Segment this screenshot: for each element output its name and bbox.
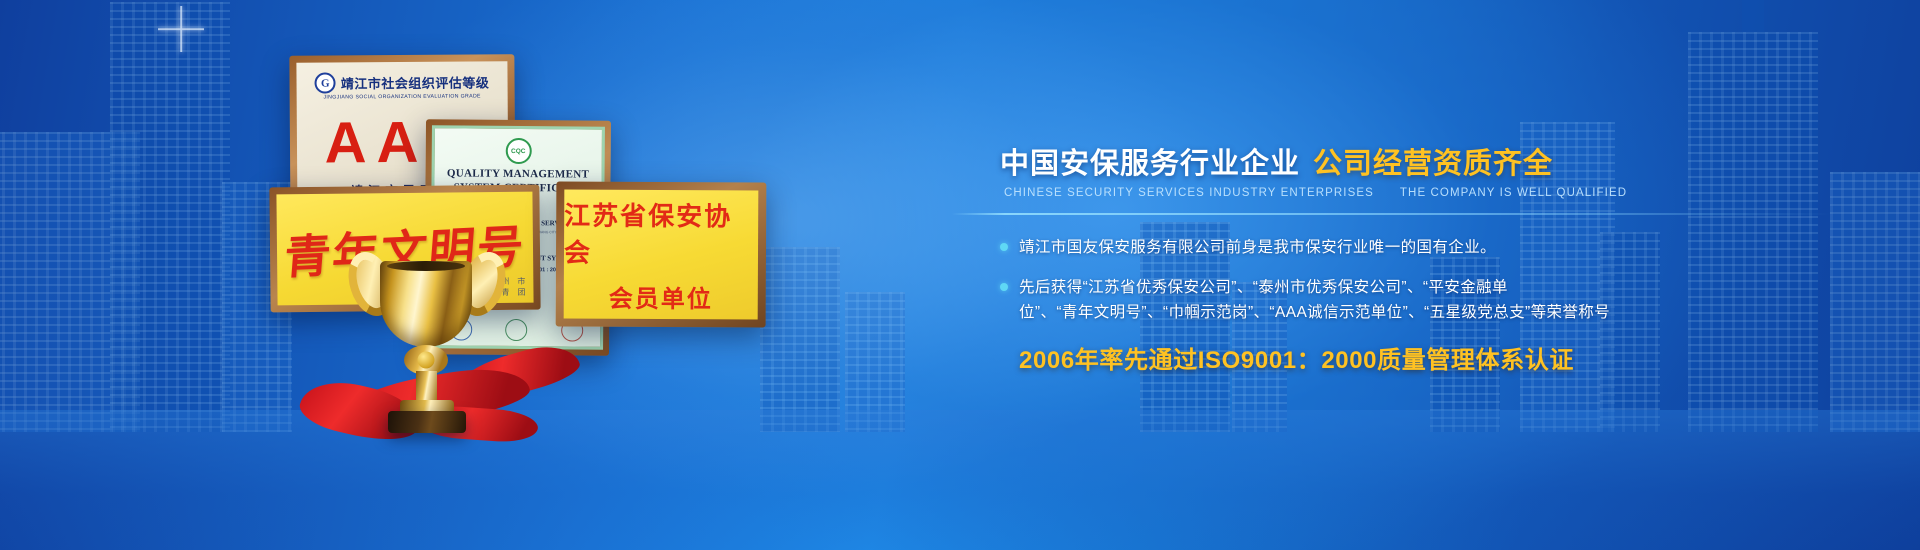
association-name: 江苏省保安协会 xyxy=(564,195,758,270)
bullet-list: 靖江市国友保安服务有限公司前身是我市保安行业唯一的国有企业。 先后获得“江苏省优… xyxy=(1000,235,1870,326)
headline-divider xyxy=(952,213,1832,215)
banner-copy: 中国安保服务行业企业 公司经营资质齐全 CHINESE SECURITY SER… xyxy=(1000,140,1870,375)
iso-highlight-text: 2006年率先通过ISO9001：2000质量管理体系认证 xyxy=(1019,340,1870,375)
aaa-header: 靖江市社会组织评估等级 xyxy=(315,71,490,93)
subtitle-en-left: CHINESE SECURITY SERVICES INDUSTRY ENTER… xyxy=(1004,187,1374,199)
headline-primary: 中国安保服务行业企业 xyxy=(1000,140,1300,182)
aaa-title-en: JINGJIANG SOCIAL ORGANIZATION EVALUATION… xyxy=(323,93,480,100)
subtitle-en-right: THE COMPANY IS WELL QUALIFIED xyxy=(1400,187,1627,199)
trophy-stem xyxy=(416,371,437,403)
bullet-dot-icon xyxy=(1000,283,1008,291)
cqc-logo-icon xyxy=(505,138,531,164)
trophy-cup xyxy=(380,261,472,347)
bullet-line-1: 靖江市国友保安服务有限公司前身是我市保安行业唯一的国有企业。 xyxy=(1019,239,1496,256)
list-item: 先后获得“江苏省优秀保安公司”、“泰州市优秀保安公司”、“平安金融单 位”、“青… xyxy=(1000,275,1870,326)
subtitle-english: CHINESE SECURITY SERVICES INDUSTRY ENTER… xyxy=(1004,187,1870,199)
headline-accent: 公司经营资质齐全 xyxy=(1313,140,1553,182)
gold-trophy-icon xyxy=(352,245,502,430)
bullet-text: 靖江市国友保安服务有限公司前身是我市保安行业唯一的国有企业。 xyxy=(1019,235,1496,261)
bullet-line-1: 先后获得“江苏省优秀保安公司”、“泰州市优秀保安公司”、“平安金融单 xyxy=(1019,279,1508,296)
iso-title-line1: QUALITY MANAGEMENT xyxy=(440,167,595,182)
list-item: 靖江市国友保安服务有限公司前身是我市保安行业唯一的国有企业。 xyxy=(1000,235,1870,261)
aaa-title-cn: 靖江市社会组织评估等级 xyxy=(341,72,490,92)
bullet-text: 先后获得“江苏省优秀保安公司”、“泰州市优秀保安公司”、“平安金融单 位”、“青… xyxy=(1019,275,1610,326)
awards-group: 靖江市社会组织评估等级 JINGJIANG SOCIAL ORGANIZATIO… xyxy=(0,0,900,550)
promo-banner: 靖江市社会组织评估等级 JINGJIANG SOCIAL ORGANIZATIO… xyxy=(0,0,1920,550)
bullet-line-2: 位”、“青年文明号”、“巾帼示范岗”、“AAA诚信示范单位”、“五星级党总支”等… xyxy=(1019,300,1610,326)
tower-spire xyxy=(1742,0,1764,32)
government-seal-icon xyxy=(315,72,336,93)
trophy-base-lower xyxy=(388,411,466,433)
association-member-label: 会员单位 xyxy=(609,278,713,314)
bullet-dot-icon xyxy=(1000,243,1008,251)
plaque-security-association-member: 江苏省保安协会 会员单位 xyxy=(556,181,767,327)
headline: 中国安保服务行业企业 公司经营资质齐全 xyxy=(1000,140,1870,182)
